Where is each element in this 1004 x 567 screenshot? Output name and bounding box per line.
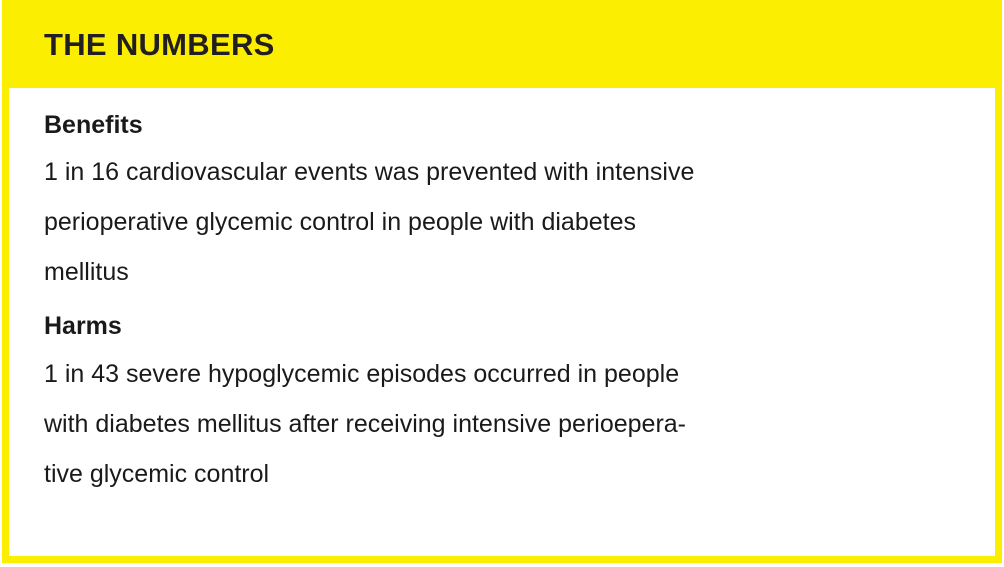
section-text-harms: 1 in 43 severe hypoglycemic episodes occ…	[44, 349, 965, 499]
text-line: tive glycemic control	[44, 449, 965, 499]
text-line: mellitus	[44, 247, 965, 297]
card-header-band: THE NUMBERS	[2, 0, 1002, 88]
card-body: Benefits 1 in 16 cardiovascular events w…	[9, 88, 995, 556]
section-harms: Harms 1 in 43 severe hypoglycemic episod…	[44, 311, 965, 498]
section-heading-harms: Harms	[44, 311, 965, 342]
text-line: 1 in 43 severe hypoglycemic episodes occ…	[44, 349, 965, 399]
text-line: 1 in 16 cardiovascular events was preven…	[44, 147, 965, 197]
section-benefits: Benefits 1 in 16 cardiovascular events w…	[44, 110, 965, 297]
text-line: perioperative glycemic control in people…	[44, 197, 965, 247]
page-title: THE NUMBERS	[2, 29, 275, 60]
section-text-benefits: 1 in 16 cardiovascular events was preven…	[44, 147, 965, 297]
the-numbers-card: THE NUMBERS Benefits 1 in 16 cardiovascu…	[0, 0, 1004, 567]
section-heading-benefits: Benefits	[44, 110, 965, 141]
text-line: with diabetes mellitus after receiving i…	[44, 399, 965, 449]
